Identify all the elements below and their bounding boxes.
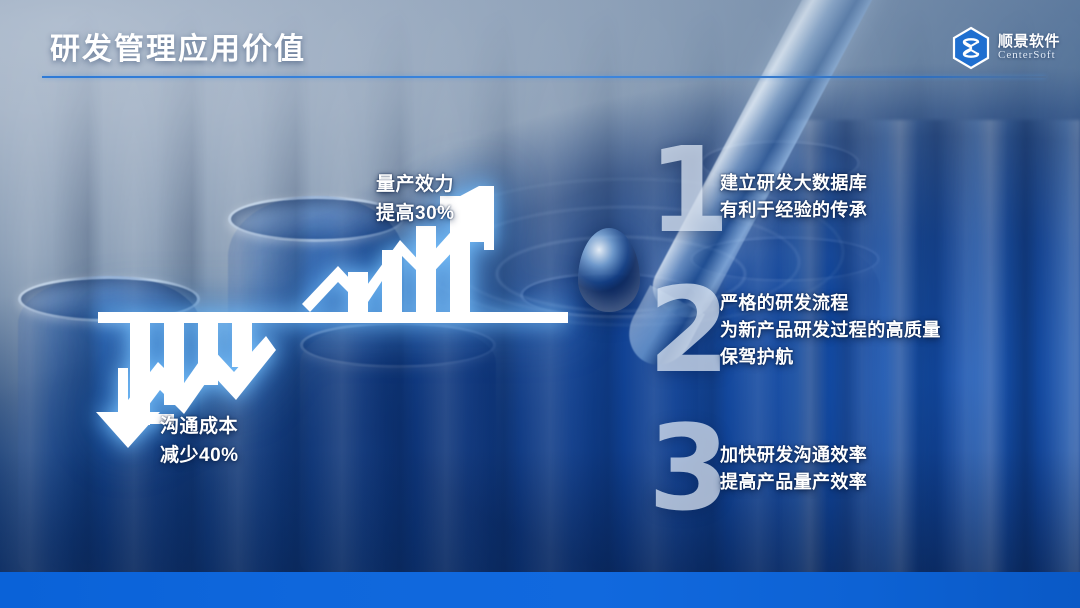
brand-logo: 顺景软件 CenterSoft xyxy=(951,26,1060,70)
slide-canvas: 研发管理应用价值 顺景软件 CenterSoft xyxy=(0,0,1080,608)
callout-label: 量产效力 xyxy=(376,170,455,199)
callout-value: 提高30% xyxy=(376,199,455,228)
brand-name-en: CenterSoft xyxy=(998,50,1060,62)
item-number: 3 xyxy=(648,418,720,519)
footer-bar xyxy=(0,572,1080,608)
item-line: 加快研发沟通效率 xyxy=(720,442,867,469)
chart-baseline xyxy=(98,312,568,323)
item-text: 严格的研发流程 为新产品研发过程的高质量 保驾护航 xyxy=(720,280,941,371)
item-number: 2 xyxy=(648,280,720,381)
item-text: 建立研发大数据库 有利于经验的传承 xyxy=(720,140,867,224)
value-item-3: 3 加快研发沟通效率 提高产品量产效率 xyxy=(648,418,867,519)
item-number: 1 xyxy=(648,140,720,241)
page-title: 研发管理应用价值 xyxy=(50,24,306,68)
hexagon-s-logo-icon xyxy=(951,26,991,70)
value-item-1: 1 建立研发大数据库 有利于经验的传承 xyxy=(648,140,867,241)
callout-value: 减少40% xyxy=(160,441,239,470)
title-underline-divider xyxy=(42,76,1046,78)
callout-communication-cost: 沟通成本 减少40% xyxy=(160,412,239,471)
trend-arrow-chart-graphic xyxy=(70,186,590,486)
value-item-2: 2 严格的研发流程 为新产品研发过程的高质量 保驾护航 xyxy=(648,280,941,381)
callout-production-efficiency: 量产效力 提高30% xyxy=(376,170,455,229)
brand-logo-text: 顺景软件 CenterSoft xyxy=(998,34,1060,61)
item-line: 有利于经验的传承 xyxy=(720,197,867,224)
callout-label: 沟通成本 xyxy=(160,412,239,441)
item-line: 建立研发大数据库 xyxy=(720,170,867,197)
item-line: 为新产品研发过程的高质量 xyxy=(720,317,941,344)
item-line: 保驾护航 xyxy=(720,344,941,371)
item-line: 严格的研发流程 xyxy=(720,290,941,317)
item-text: 加快研发沟通效率 提高产品量产效率 xyxy=(720,418,867,496)
item-line: 提高产品量产效率 xyxy=(720,469,867,496)
brand-name-cn: 顺景软件 xyxy=(998,34,1060,50)
